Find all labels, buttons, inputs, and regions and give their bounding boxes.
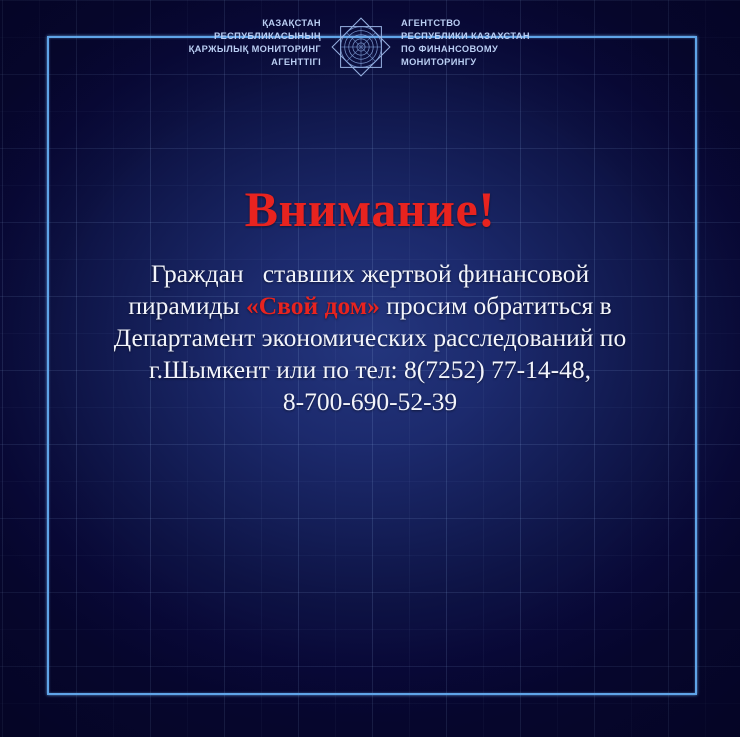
warning-body-line-5: 8-700-690-52-39: [61, 386, 679, 418]
warning-body-line-4: г.Шымкент или по тел: 8(7252) 77-14-48,: [61, 354, 679, 386]
agency-name-russian-line-1: АГЕНТСТВО: [401, 17, 581, 30]
poster-content: Внимание! Граждан ставших жертвой финанс…: [47, 36, 693, 691]
warning-body-line-1: Граждан ставших жертвой финансовой: [61, 258, 679, 290]
agency-name-kazakh-line-1: ҚАЗАҚСТАН: [159, 17, 321, 30]
warning-body-line-2: пирамиды «Свой дом» просим обратиться в: [61, 290, 679, 322]
warning-body-line-2-suffix: просим обратиться в: [380, 291, 612, 320]
pyramid-scheme-name: «Свой дом»: [246, 291, 380, 320]
warning-headline: Внимание!: [47, 184, 693, 234]
public-warning-poster: ҚАЗАҚСТАН РЕСПУБЛИКАСЫНЫҢ ҚАРЖЫЛЫҚ МОНИТ…: [0, 0, 740, 737]
warning-body-text: Граждан ставших жертвой финансовой пирам…: [61, 258, 679, 418]
warning-body-line-2-prefix: пирамиды: [128, 291, 246, 320]
warning-body-line-3: Департамент экономических расследований …: [61, 322, 679, 354]
